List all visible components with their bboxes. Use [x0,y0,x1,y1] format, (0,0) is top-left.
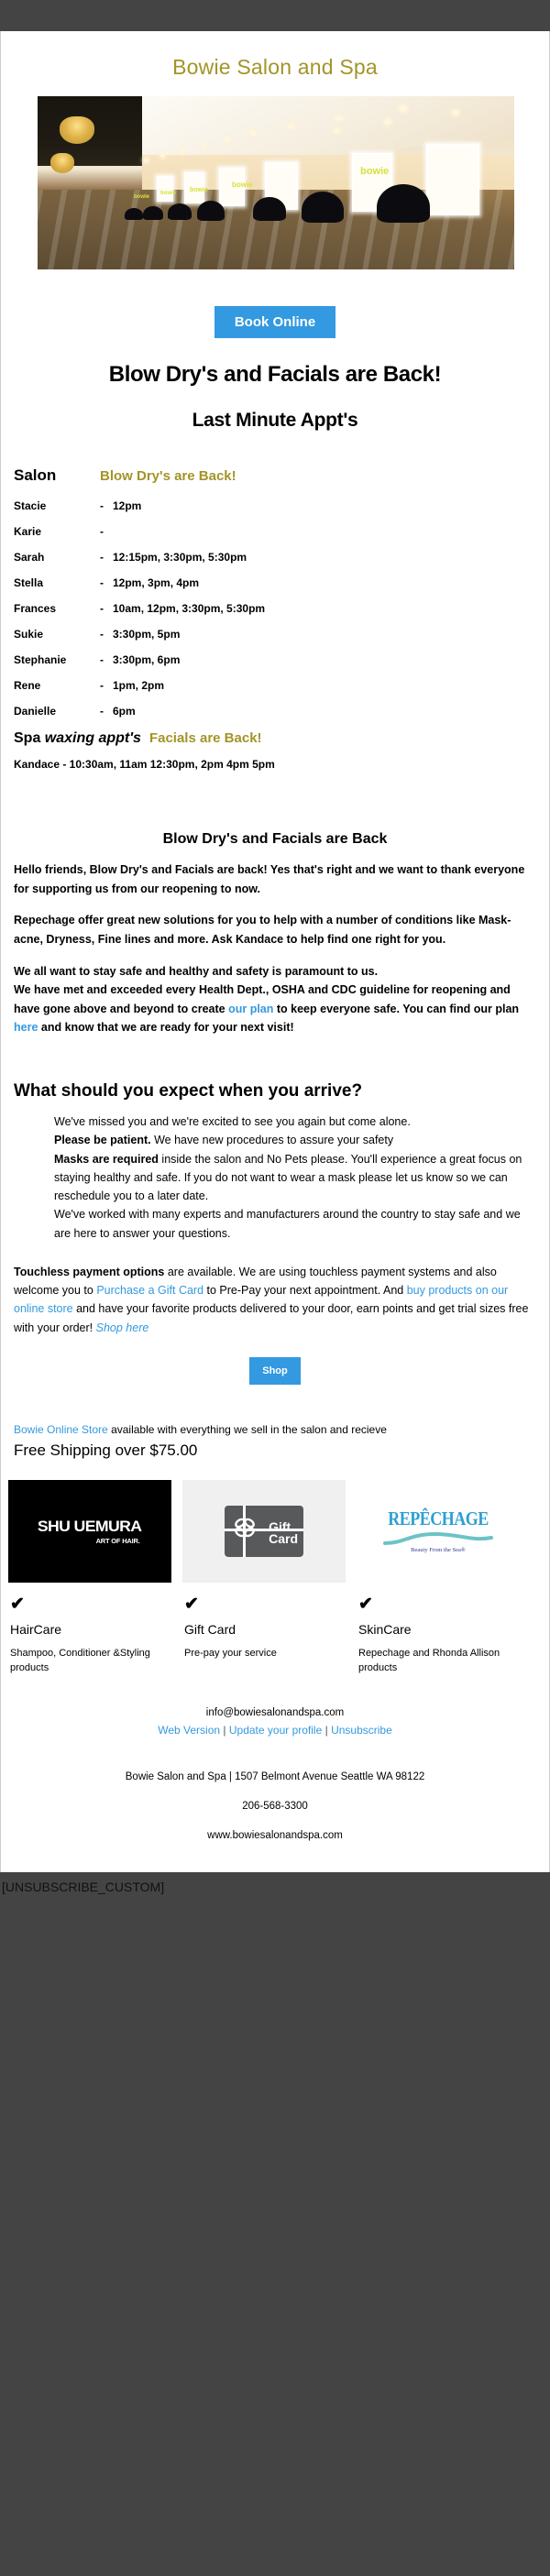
shop-button-row: Shop [1,1337,549,1385]
stylist-name: Stacie [14,499,100,512]
stylist-name: Stella [14,576,100,589]
here-link[interactable]: here [14,1021,38,1034]
bowie-wall-sign: bowie [160,191,176,196]
spa-waxing-label: Spa waxing appt's [14,730,141,747]
salon-interior-photo: bowie bowie bowie bowie bowie [38,96,514,269]
purchase-gift-card-link[interactable]: Purchase a Gift Card [96,1284,203,1297]
ceiling-light-icon [288,124,294,129]
touchless-c: and have your favorite products delivere… [14,1302,528,1333]
shu-uemura-line1: SHU UEMURA [38,1518,142,1536]
expect-copy: We've missed you and we're excited to se… [1,1102,549,1243]
facials-banner: Facials are Back! [149,730,262,746]
unsubscribe-custom-token: [UNSUBSCRIBE_CUSTOM] [2,1880,164,1894]
footer-links: Web Version | Update your profile | Unsu… [1,1718,549,1737]
top-chrome-bar [0,0,550,31]
stylist-name: Sarah [14,551,100,564]
salon-chair [302,192,344,223]
gift-card-line2: Card [269,1531,298,1546]
salon-chair [143,206,163,220]
page-title: Bowie Salon and Spa [1,31,549,96]
footer-address: Bowie Salon and Spa | 1507 Belmont Avenu… [1,1737,549,1782]
email-content: Bowie Salon and Spa [0,31,550,1872]
table-row: Frances - 10am, 12pm, 3:30pm, 5:30pm [14,602,549,615]
row-dash: - [100,653,113,666]
card-description: Pre-pay your service [182,1637,346,1661]
ceiling-light-icon [180,149,184,153]
shop-here-link[interactable]: Shop here [96,1321,149,1334]
stylist-name: Frances [14,602,100,615]
card-title: HairCare [8,1613,171,1637]
touchless-bold: Touchless payment options [14,1266,164,1278]
spa-word: Spa [14,730,45,746]
safety-line-4: and know that we are ready for your next… [38,1021,293,1034]
stylist-times: 10am, 12pm, 3:30pm, 5:30pm [113,602,265,615]
ceiling-light-icon [250,131,257,136]
expect-line-4: We've worked with many experts and manuf… [54,1205,531,1243]
gift-card-text: GiftCard [269,1521,298,1546]
web-version-link[interactable]: Web Version [158,1724,220,1737]
stylist-times: 12pm [113,499,141,512]
body-copy-bold: Hello friends, Blow Dry's and Facials ar… [1,848,549,1037]
styling-mirror [157,176,173,202]
paragraph-safety: We all want to stay safe and healthy and… [14,962,536,1038]
row-dash: - [100,628,113,641]
bowie-wall-sign: bowie [134,194,149,200]
ceiling-light-icon [452,110,459,115]
gift-card-icon: GiftCard [225,1506,303,1557]
table-row: Karie - [14,525,549,538]
table-row: Stacie - 12pm [14,499,549,512]
table-row: Sarah - 12:15pm, 3:30pm, 5:30pm [14,551,549,564]
footer-separator: | [223,1724,225,1737]
repechage-line2: Beauty From the Sea® [383,1547,493,1553]
paragraph-repechage: Repechage offer great new solutions for … [14,911,536,948]
expect-line-2: Please be patient. We have new procedure… [54,1131,531,1149]
bowie-wall-sign: bowie [190,187,208,193]
store-line-rest: available with everything we sell in the… [108,1423,387,1436]
table-row: Sukie - 3:30pm, 5pm [14,628,549,641]
repechage-line1: REPÊCHAGE [383,1507,493,1530]
paragraph-hello: Hello friends, Blow Dry's and Facials ar… [14,860,536,898]
shu-uemura-logo[interactable]: SHU UEMURA ART OF HAIR. [8,1480,171,1583]
stylist-name: Sukie [14,628,100,641]
our-plan-link[interactable]: our plan [228,1003,273,1015]
book-online-button[interactable]: Book Online [214,306,335,338]
checkmark-icon: ✔ [357,1583,520,1613]
salon-chair [197,201,225,221]
product-cards: SHU UEMURA ART OF HAIR. ✔ HairCare Shamp… [1,1460,549,1676]
section-headline-back: Blow Dry's and Facials are Back [1,771,549,848]
bottom-chrome-bar: [UNSUBSCRIBE_CUSTOM] [0,1872,550,1943]
shu-uemura-line2: ART OF HAIR. [39,1537,139,1545]
stylist-times: 1pm, 2pm [113,679,164,692]
stylist-name: Rene [14,679,100,692]
spa-header-row: Spa waxing appt's Facials are Back! [14,730,549,747]
ceiling-light-icon [160,154,165,158]
email-page: Bowie Salon and Spa [0,0,550,1943]
repechage-logo[interactable]: REPÊCHAGE Beauty From the Sea® [357,1480,520,1583]
card-gift-card[interactable]: GiftCard ✔ Gift Card Pre-pay your servic… [182,1480,346,1676]
repechage-wave-icon [383,1531,493,1546]
checkmark-icon: ✔ [182,1583,346,1613]
footer-phone: 206-568-3300 [1,1782,549,1812]
footer-email: info@bowiesalonandspa.com [1,1707,549,1718]
stylist-times: 12pm, 3pm, 4pm [113,576,199,589]
card-haircare[interactable]: SHU UEMURA ART OF HAIR. ✔ HairCare Shamp… [8,1480,171,1676]
row-dash: - [100,705,113,718]
stylist-times: 12:15pm, 3:30pm, 5:30pm [113,551,247,564]
repechage-wordmark: REPÊCHAGE Beauty From the Sea® [383,1509,493,1553]
checkmark-icon: ✔ [8,1583,171,1613]
spa-kandace-row: Kandace - 10:30am, 11am 12:30pm, 2pm 4pm… [14,758,549,771]
appointments-header-row: Salon Blow Dry's are Back! [14,466,549,485]
touchless-paragraph: Touchless payment options are available.… [14,1263,534,1337]
gift-card-graphic[interactable]: GiftCard [182,1480,346,1583]
expect-line-3: Masks are required inside the salon and … [54,1150,531,1206]
row-dash: - [100,576,113,589]
book-online-row: Book Online [1,269,549,338]
blow-dry-banner: Blow Dry's are Back! [100,468,236,484]
ceiling-light-icon [384,119,391,125]
section-headline-expect: What should you expect when you arrive? [1,1050,549,1102]
card-title: SkinCare [357,1613,520,1637]
card-skincare[interactable]: REPÊCHAGE Beauty From the Sea® ✔ SkinCar… [357,1480,520,1676]
table-row: Stella - 12pm, 3pm, 4pm [14,576,549,589]
ceiling-light-icon [225,137,230,142]
ceiling-light-icon [201,144,206,148]
ceiling-light-icon [144,159,148,162]
table-row: Stephanie - 3:30pm, 6pm [14,653,549,666]
hero-image-wrapper: bowie bowie bowie bowie bowie [1,96,549,269]
row-dash: - [100,679,113,692]
salon-chair [377,184,430,223]
row-dash: - [100,551,113,564]
expect-line-1: We've missed you and we're excited to se… [54,1113,531,1131]
update-profile-link[interactable]: Update your profile [229,1724,322,1737]
salon-chair [125,208,143,220]
card-description: Shampoo, Conditioner &Styling products [8,1637,171,1676]
expect-line-2-rest: We have new procedures to assure your sa… [151,1134,394,1146]
card-description: Repechage and Rhonda Allison products [357,1637,520,1676]
table-row: Danielle - 6pm [14,705,549,718]
headline-main: Blow Dry's and Facials are Back! [1,338,549,388]
headline-sub: Last Minute Appt's [1,388,549,432]
chandelier-icon [60,116,94,144]
unsubscribe-link[interactable]: Unsubscribe [331,1724,392,1737]
safety-line-1: We all want to stay safe and healthy and… [14,965,378,978]
shu-uemura-wordmark: SHU UEMURA ART OF HAIR. [39,1518,139,1545]
footer: info@bowiesalonandspa.com Web Version | … [1,1676,549,1872]
stylist-times: 3:30pm, 6pm [113,653,180,666]
stylist-name: Danielle [14,705,100,718]
free-shipping-text: Free Shipping over $75.00 [1,1438,549,1460]
footer-separator: | [325,1724,328,1737]
bowie-wall-sign: bowie [232,181,253,189]
ceiling-light-icon [334,128,340,133]
salon-column-label: Salon [14,466,100,485]
stylist-name: Karie [14,525,100,538]
styling-mirror [426,144,479,215]
please-be-patient-bold: Please be patient. [54,1134,151,1146]
footer-website: www.bowiesalonandspa.com [1,1812,549,1872]
touchless-b: to Pre-Pay your next appointment. And [203,1284,407,1297]
stylist-name: Stephanie [14,653,100,666]
salon-chair [168,203,192,220]
appointments-list: Salon Blow Dry's are Back! Stacie - 12pm… [1,432,549,771]
online-store-line: Bowie Online Store available with everyt… [1,1385,549,1438]
touchless-copy: Touchless payment options are available.… [1,1243,549,1337]
stylist-times: 3:30pm, 5pm [113,628,180,641]
bowie-online-store-link[interactable]: Bowie Online Store [14,1423,108,1436]
masks-required-bold: Masks are required [54,1153,159,1166]
row-dash: - [100,602,113,615]
row-dash: - [100,525,113,538]
row-dash: - [100,499,113,512]
chandelier-icon [50,153,74,173]
stylist-times: 6pm [113,705,136,718]
waxing-appts-word: waxing appt's [45,730,141,746]
ceiling-light-icon [335,115,343,121]
table-row: Rene - 1pm, 2pm [14,679,549,692]
card-title: Gift Card [182,1613,346,1637]
safety-line-3: to keep everyone safe. You can find our … [273,1003,519,1015]
bowie-wall-sign: bowie [360,166,389,177]
salon-chair [253,197,286,221]
ceiling-light-icon [399,105,407,112]
gift-bow-icon [233,1516,257,1540]
shop-button[interactable]: Shop [249,1357,301,1385]
